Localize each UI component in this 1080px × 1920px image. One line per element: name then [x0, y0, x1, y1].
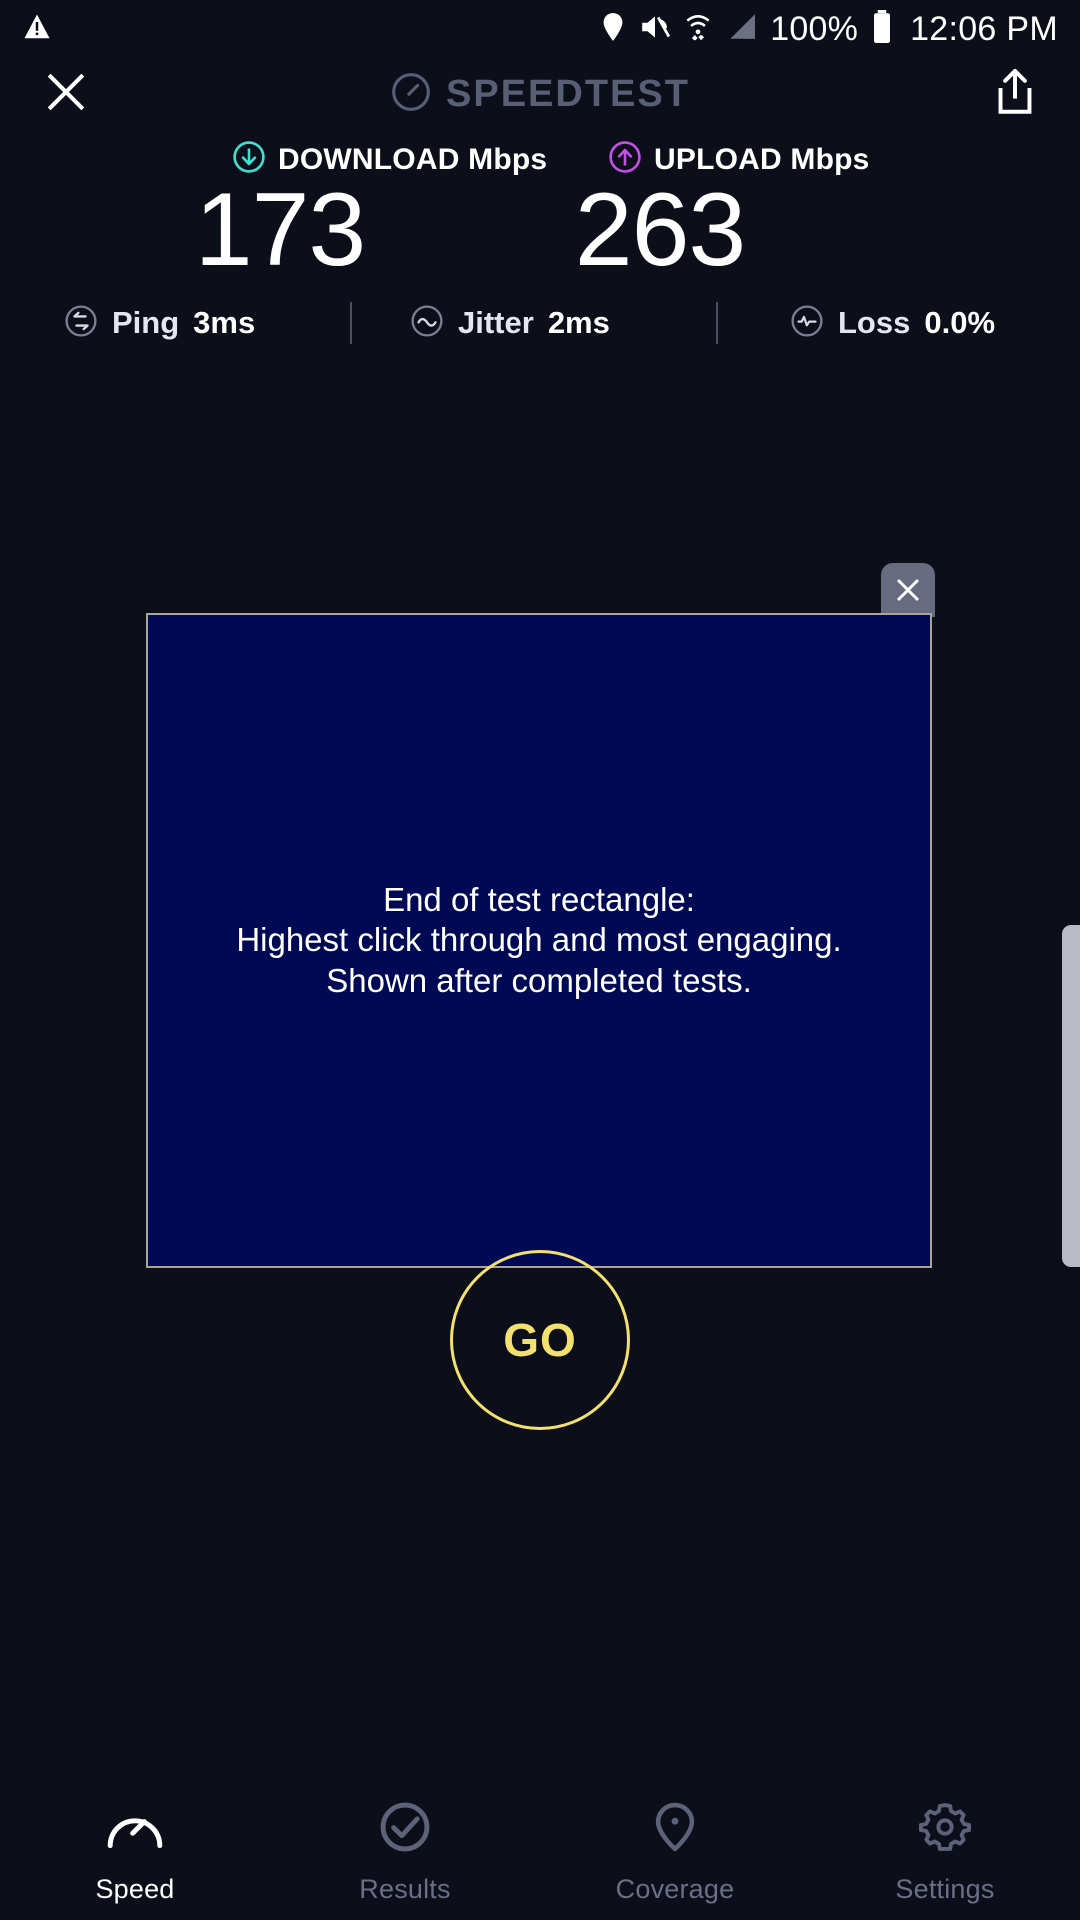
ad-rectangle[interactable]: End of test rectangle: Highest click thr… [146, 613, 932, 1268]
ad-container[interactable]: End of test rectangle: Highest click thr… [146, 613, 932, 1268]
jitter-label: Jitter [458, 305, 534, 341]
ping-exchange-icon [64, 304, 98, 343]
ping-metric: Ping 3ms [64, 304, 255, 343]
close-icon[interactable] [42, 68, 90, 121]
nav-item-speed[interactable]: Speed [0, 1791, 270, 1905]
ad-close-button[interactable] [881, 563, 935, 617]
battery-percent-label: 100% [770, 10, 858, 49]
status-bar-left [22, 12, 52, 47]
speed-gauge-icon [104, 1801, 166, 1858]
map-pin-icon [644, 1801, 706, 1858]
battery-full-icon [871, 10, 893, 49]
nav-item-coverage[interactable]: Coverage [540, 1791, 810, 1905]
volume-muted-icon [639, 12, 671, 47]
loss-label: Loss [838, 305, 910, 341]
nav-label-settings: Settings [895, 1874, 994, 1905]
gear-icon [914, 1801, 976, 1858]
ad-line-1: End of test rectangle: [236, 880, 841, 920]
nav-item-results[interactable]: Results [270, 1791, 540, 1905]
go-button[interactable]: GO [450, 1250, 630, 1430]
nav-label-speed: Speed [95, 1874, 174, 1905]
ping-label: Ping [112, 305, 179, 341]
speedtest-gauge-icon [390, 71, 432, 118]
loss-metric: Loss 0.0% [790, 304, 995, 343]
metric-divider [716, 302, 718, 344]
jitter-wave-icon [410, 304, 444, 343]
ad-line-3: Shown after completed tests. [236, 961, 841, 1001]
ping-value: 3ms [193, 305, 255, 341]
ad-text: End of test rectangle: Highest click thr… [222, 880, 855, 1001]
page-title: SPEEDTEST [446, 73, 690, 116]
nav-item-settings[interactable]: Settings [810, 1791, 1080, 1905]
jitter-value: 2ms [548, 305, 610, 341]
check-circle-icon [374, 1801, 436, 1858]
status-bar: 100% 12:06 PM [0, 0, 1080, 58]
nav-label-coverage: Coverage [616, 1874, 735, 1905]
cellular-signal-icon [725, 12, 757, 47]
upload-value: 263 [380, 178, 940, 282]
jitter-metric: Jitter 2ms [410, 304, 610, 343]
loss-pulse-icon [790, 304, 824, 343]
loss-value: 0.0% [924, 305, 995, 341]
wifi-icon [684, 11, 712, 48]
warning-triangle-icon [22, 12, 52, 47]
app-title-group: SPEEDTEST [390, 71, 690, 118]
go-button-label: GO [503, 1313, 577, 1367]
speed-results: DOWNLOAD Mbps UPLOAD Mbps 173 263 [0, 140, 1080, 294]
app-header: SPEEDTEST [0, 58, 1080, 130]
sub-metrics-row: Ping 3ms Jitter 2ms Loss 0.0% [0, 300, 1080, 346]
metric-values-row: 173 263 [0, 184, 1080, 294]
scrollbar-thumb[interactable] [1062, 925, 1080, 1267]
share-icon[interactable] [992, 67, 1038, 122]
location-pin-icon [600, 12, 626, 47]
metric-divider [350, 302, 352, 344]
clock-label: 12:06 PM [910, 10, 1058, 49]
ad-line-2: Highest click through and most engaging. [236, 920, 841, 960]
bottom-navigation: Speed Results Coverage Settings [0, 1775, 1080, 1920]
status-bar-right: 100% 12:06 PM [600, 10, 1058, 49]
nav-label-results: Results [359, 1874, 450, 1905]
